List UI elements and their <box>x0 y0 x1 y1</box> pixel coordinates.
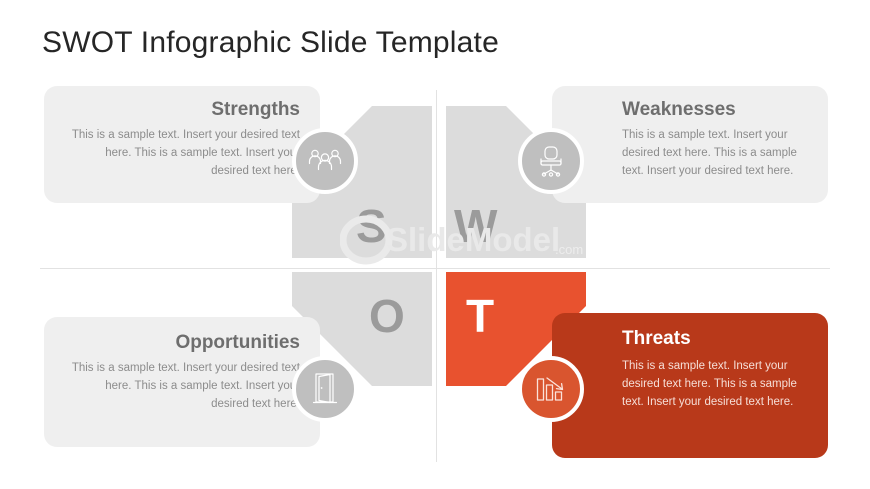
icon-circle-weaknesses[interactable] <box>518 128 584 194</box>
card-weaknesses-title: Weaknesses <box>622 100 808 121</box>
card-strengths[interactable]: Strengths This is a sample text. Insert … <box>44 86 320 203</box>
card-threats-title: Threats <box>622 329 808 350</box>
page-title: SWOT Infographic Slide Template <box>42 26 499 60</box>
people-group-icon <box>308 148 342 174</box>
swot-letter-t: T <box>466 293 494 339</box>
icon-circle-strengths[interactable] <box>292 128 358 194</box>
card-threats[interactable]: Threats This is a sample text. Insert yo… <box>552 313 828 458</box>
office-chair-icon <box>536 145 566 177</box>
card-threats-body: This is a sample text. Insert your desir… <box>622 358 804 411</box>
swot-letter-o: O <box>369 293 405 339</box>
card-weaknesses-body: This is a sample text. Insert your desir… <box>622 127 804 180</box>
icon-circle-opportunities[interactable] <box>292 356 358 422</box>
open-door-icon <box>312 373 338 405</box>
card-opportunities-title: Opportunities <box>64 333 300 354</box>
card-strengths-title: Strengths <box>64 100 300 121</box>
card-weaknesses[interactable]: Weaknesses This is a sample text. Insert… <box>552 86 828 203</box>
card-opportunities[interactable]: Opportunities This is a sample text. Ins… <box>44 317 320 447</box>
swot-letter-w: W <box>454 203 497 249</box>
icon-circle-threats[interactable] <box>518 356 584 422</box>
swot-letter-s: S <box>356 203 387 249</box>
swot-slide: SWOT Infographic Slide Template S W O <box>0 0 870 489</box>
card-opportunities-body: This is a sample text. Insert your desir… <box>70 360 300 413</box>
card-strengths-body: This is a sample text. Insert your desir… <box>70 127 300 180</box>
declining-bar-chart-icon <box>535 374 567 404</box>
